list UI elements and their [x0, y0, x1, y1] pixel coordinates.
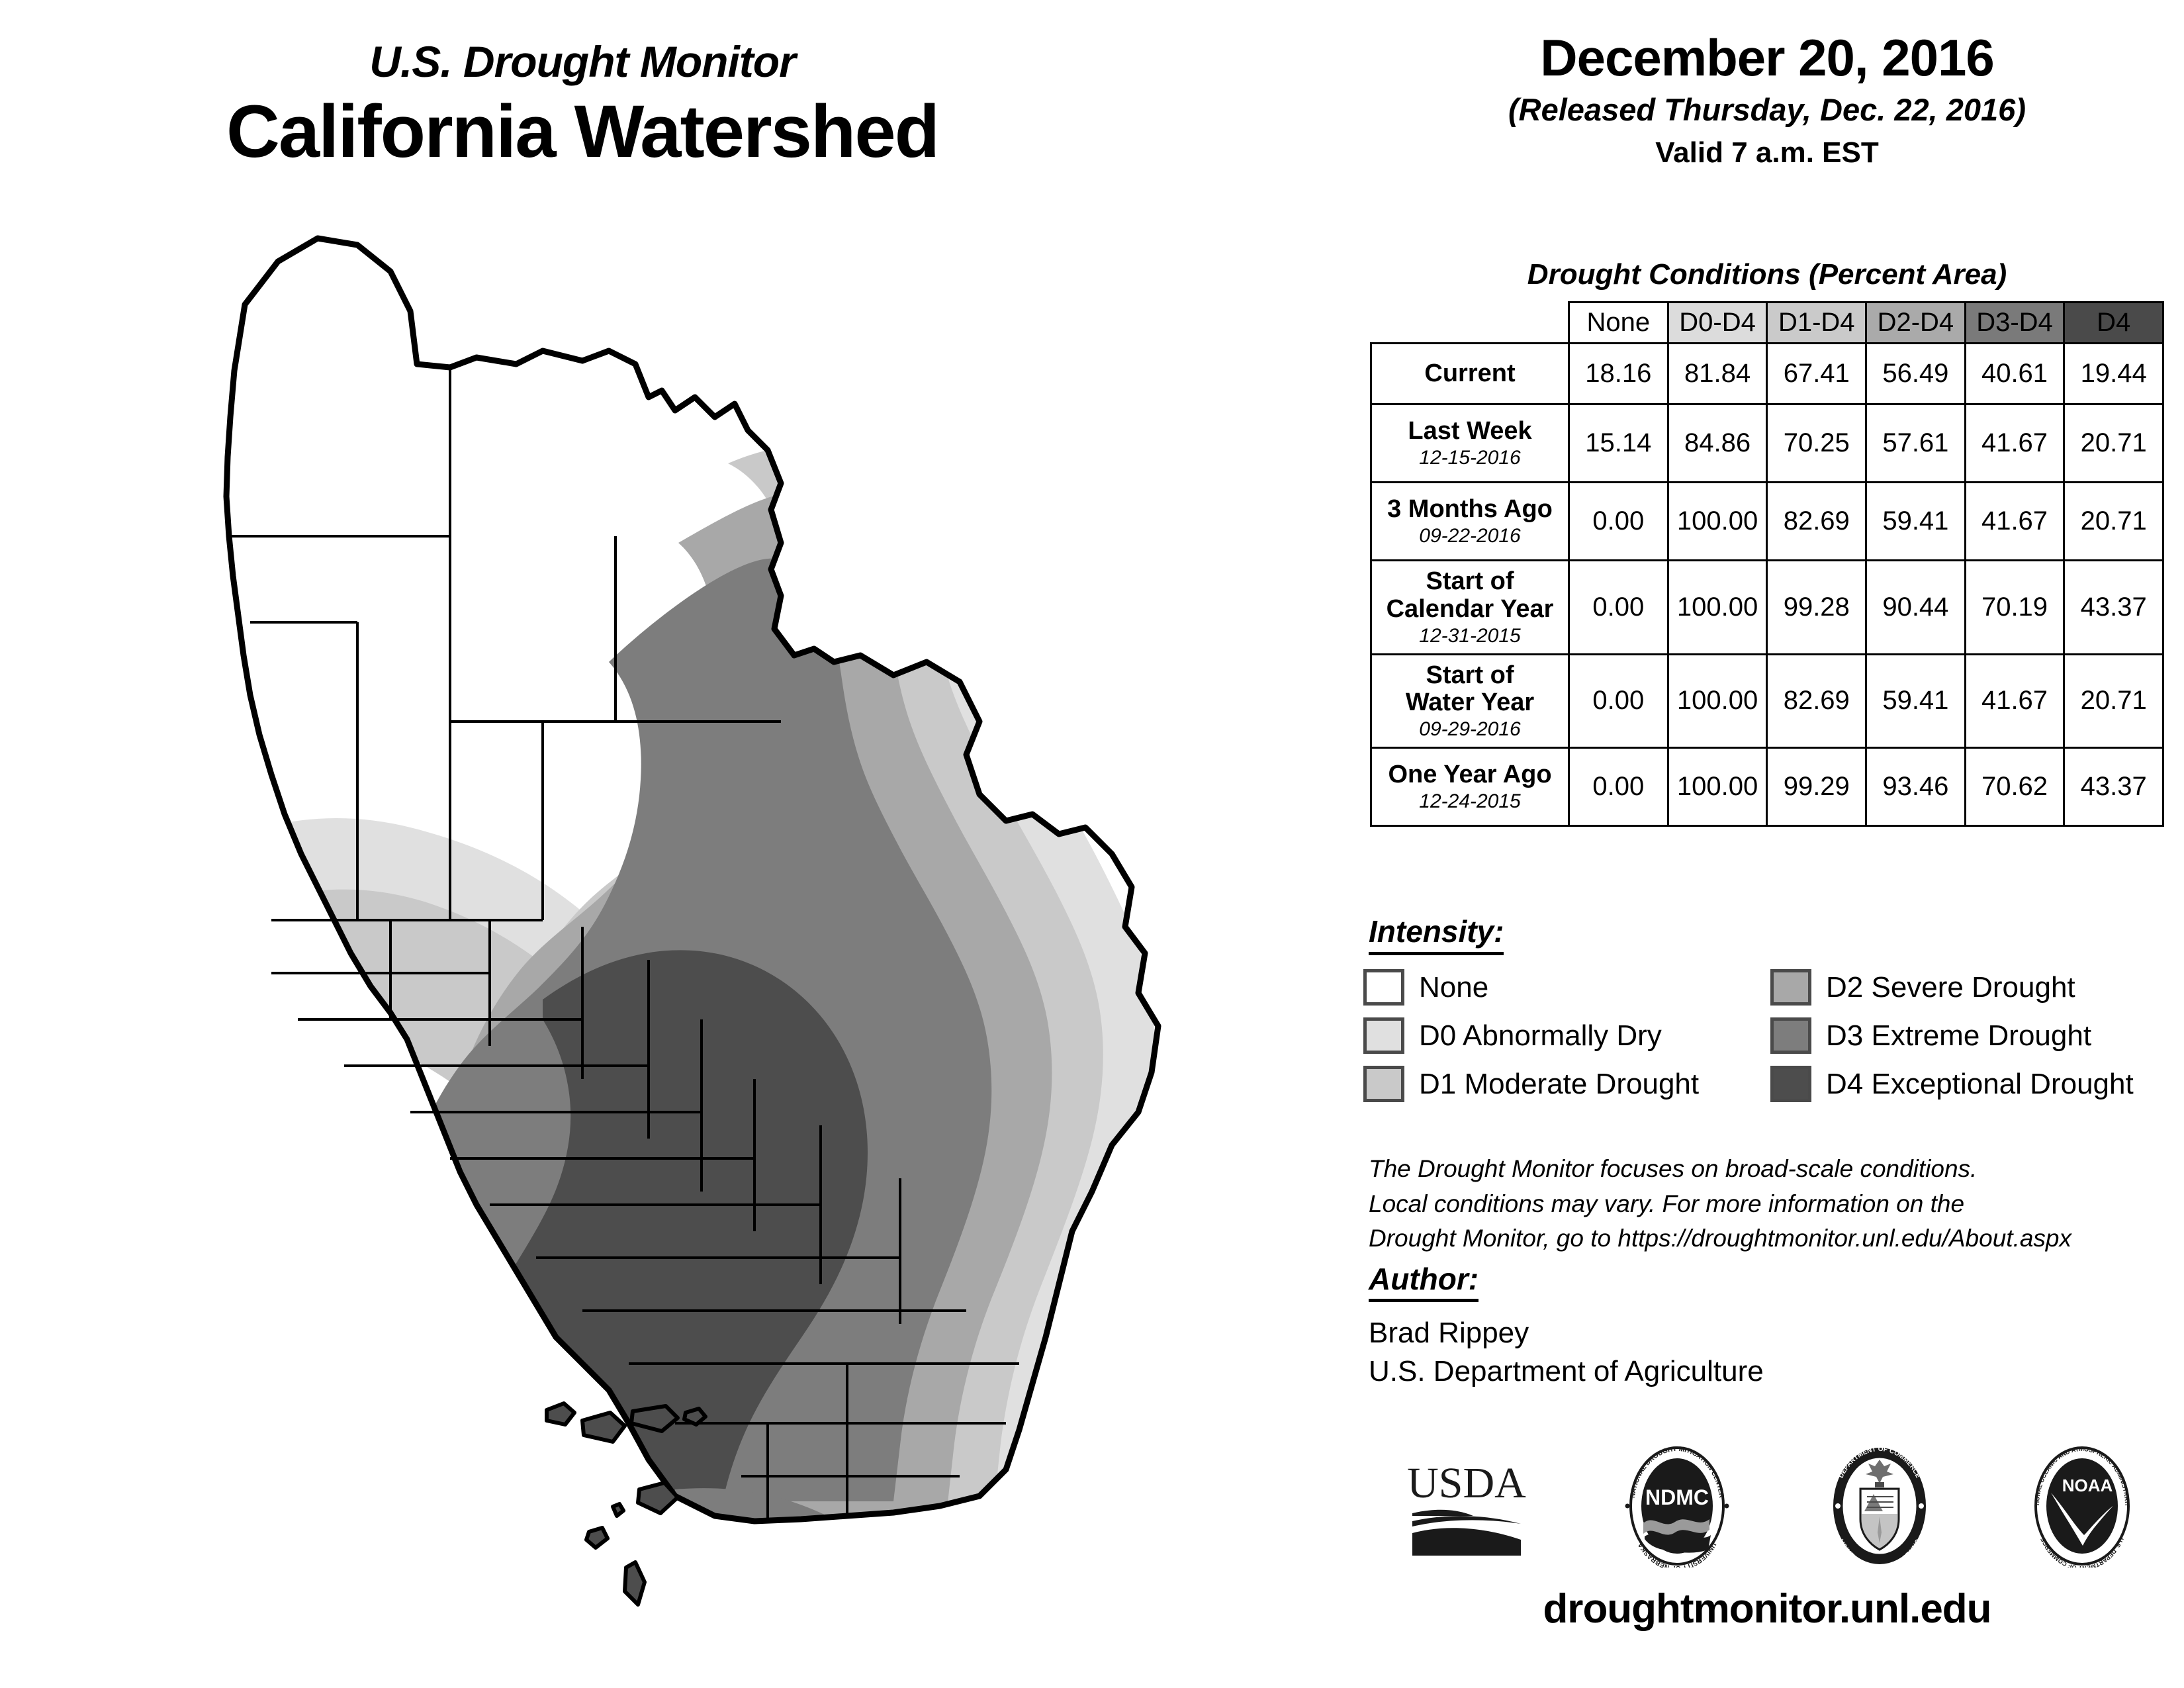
row-label-date: 12-31-2015	[1376, 625, 1564, 647]
author-heading: Author:	[1369, 1261, 1479, 1302]
ndmc-logo-text: NDMC	[1645, 1485, 1709, 1509]
row-label-name: Start ofWater Year	[1376, 662, 1564, 718]
cell-d2-d4: 93.46	[1866, 748, 1966, 826]
legend-item-d4: D4 Exceptional Drought	[1770, 1060, 2184, 1108]
cell-none: 0.00	[1569, 654, 1668, 748]
cell-d2-d4: 56.49	[1866, 344, 1966, 404]
release-date: (Released Thursday, Dec. 22, 2016)	[1350, 94, 2184, 125]
legend-label: D2 Severe Drought	[1826, 971, 2075, 1004]
legend-item-d1: D1 Moderate Drought	[1363, 1060, 1770, 1108]
cell-d0-d4: 100.00	[1668, 561, 1767, 655]
title-block: U.S. Drought Monitor California Watershe…	[0, 40, 1165, 171]
row-label-last-week: Last Week 12-15-2016	[1371, 404, 1569, 483]
legend-swatch-d0	[1363, 1017, 1404, 1054]
row-label-name: One Year Ago	[1376, 761, 1564, 789]
cell-d3-d4: 41.67	[1965, 654, 2064, 748]
cell-d3-d4: 41.67	[1965, 483, 2064, 561]
column-header-d2-d4: D2-D4	[1866, 303, 1966, 344]
cell-d1-d4: 67.41	[1767, 344, 1866, 404]
row-label-name: Last Week	[1376, 418, 1564, 445]
legend-item-d2: D2 Severe Drought	[1770, 963, 2184, 1011]
disclaimer-line-2: Local conditions may vary. For more info…	[1369, 1187, 2184, 1222]
author-affiliation: U.S. Department of Agriculture	[1369, 1352, 1764, 1391]
row-label-start-of-water-year: Start ofWater Year 09-29-2016	[1371, 654, 1569, 748]
table-row: Start ofCalendar Year 12-31-2015 0.00 10…	[1371, 561, 2163, 655]
row-label-3-months-ago: 3 Months Ago 09-22-2016	[1371, 483, 1569, 561]
author-name: Brad Rippey	[1369, 1314, 1764, 1352]
legend-label: D0 Abnormally Dry	[1419, 1019, 1662, 1053]
doc-logo: DEPARTMENT OF COMMERCE UNITED STATES OF …	[1822, 1445, 1938, 1568]
row-label-current: Current	[1371, 344, 1569, 404]
info-panel: December 20, 2016 (Released Thursday, De…	[1350, 0, 2184, 1688]
cell-d0-d4: 81.84	[1668, 344, 1767, 404]
disclaimer-line-1: The Drought Monitor focuses on broad-sca…	[1369, 1152, 2184, 1187]
column-header-d0-d4: D0-D4	[1668, 303, 1767, 344]
cell-d4: 20.71	[2064, 404, 2163, 483]
cell-d2-d4: 57.61	[1866, 404, 1966, 483]
row-label-date: 09-29-2016	[1376, 718, 1564, 740]
intensity-heading: Intensity:	[1369, 914, 1504, 955]
table-row: Current 18.16 81.84 67.41 56.49 40.61 19…	[1371, 344, 2163, 404]
map-panel: U.S. Drought Monitor California Watershe…	[0, 0, 1350, 1688]
valid-time: Valid 7 a.m. EST	[1350, 138, 2184, 167]
table-corner-cell	[1371, 303, 1569, 344]
column-header-d1-d4: D1-D4	[1767, 303, 1866, 344]
row-label-date: 12-24-2015	[1376, 790, 1564, 812]
cell-d3-d4: 70.19	[1965, 561, 2064, 655]
disclaimer-line-3: Drought Monitor, go to https://droughtmo…	[1369, 1221, 2184, 1256]
cell-d0-d4: 100.00	[1668, 483, 1767, 561]
cell-d1-d4: 70.25	[1767, 404, 1866, 483]
legend-label: D3 Extreme Drought	[1826, 1019, 2091, 1053]
row-label-date: 09-22-2016	[1376, 525, 1564, 547]
cell-d1-d4: 82.69	[1767, 654, 1866, 748]
noaa-logo-text: NOAA	[2062, 1476, 2113, 1495]
column-header-none: None	[1569, 303, 1668, 344]
row-label-date: 12-15-2016	[1376, 447, 1564, 469]
legend-swatch-d3	[1770, 1017, 1811, 1054]
legend-item-none: None	[1363, 963, 1770, 1011]
disclaimer-text: The Drought Monitor focuses on broad-sca…	[1369, 1152, 2184, 1256]
ndmc-logo: NDMC NATIONAL DROUGHT MITIGATION CENTER …	[1619, 1445, 1735, 1568]
table-title: Drought Conditions (Percent Area)	[1350, 258, 2184, 291]
legend-swatch-d1	[1363, 1066, 1404, 1102]
cell-d2-d4: 59.41	[1866, 483, 1966, 561]
cell-none: 0.00	[1569, 748, 1668, 826]
cell-d3-d4: 70.62	[1965, 748, 2064, 826]
row-label-name: 3 Months Ago	[1376, 496, 1564, 524]
cell-d0-d4: 100.00	[1668, 654, 1767, 748]
table-row: 3 Months Ago 09-22-2016 0.00 100.00 82.6…	[1371, 483, 2163, 561]
cell-d4: 19.44	[2064, 344, 2163, 404]
cell-d0-d4: 100.00	[1668, 748, 1767, 826]
legend-swatch-d2	[1770, 969, 1811, 1006]
cell-d1-d4: 99.29	[1767, 748, 1866, 826]
cell-d3-d4: 40.61	[1965, 344, 2064, 404]
table-row: Start ofWater Year 09-29-2016 0.00 100.0…	[1371, 654, 2163, 748]
cell-d4: 20.71	[2064, 654, 2163, 748]
california-watershed-map[interactable]	[79, 199, 1304, 1655]
legend-swatch-d4	[1770, 1066, 1811, 1102]
row-label-name: Start ofCalendar Year	[1376, 568, 1564, 624]
date-block: December 20, 2016 (Released Thursday, De…	[1350, 32, 2184, 167]
author-block: Brad Rippey U.S. Department of Agricultu…	[1369, 1314, 1764, 1391]
row-label-name: Current	[1376, 360, 1564, 388]
page-subtitle: U.S. Drought Monitor	[0, 40, 1165, 83]
legend-label: D1 Moderate Drought	[1419, 1068, 1699, 1101]
agency-logos: USDA NDMC NATIONAL DROUGHT MITIGATION CE…	[1357, 1436, 2184, 1575]
cell-d2-d4: 59.41	[1866, 654, 1966, 748]
row-label-start-of-calendar-year: Start ofCalendar Year 12-31-2015	[1371, 561, 1569, 655]
drought-conditions-table: None D0-D4 D1-D4 D2-D4 D3-D4 D4 Current …	[1370, 301, 2164, 827]
row-label-one-year-ago: One Year Ago 12-24-2015	[1371, 748, 1569, 826]
legend-swatch-none	[1363, 969, 1404, 1006]
column-header-d4: D4	[2064, 303, 2163, 344]
map-container[interactable]	[79, 199, 1304, 1655]
table-row: One Year Ago 12-24-2015 0.00 100.00 99.2…	[1371, 748, 2163, 826]
cell-d4: 43.37	[2064, 561, 2163, 655]
cell-d0-d4: 84.86	[1668, 404, 1767, 483]
cell-d1-d4: 99.28	[1767, 561, 1866, 655]
drought-monitor-page: U.S. Drought Monitor California Watershe…	[0, 0, 2184, 1688]
cell-d4: 43.37	[2064, 748, 2163, 826]
cell-d2-d4: 90.44	[1866, 561, 1966, 655]
table-row: Last Week 12-15-2016 15.14 84.86 70.25 5…	[1371, 404, 2163, 483]
report-date: December 20, 2016	[1350, 32, 2184, 83]
cell-none: 0.00	[1569, 483, 1668, 561]
cell-d3-d4: 41.67	[1965, 404, 2064, 483]
cell-none: 18.16	[1569, 344, 1668, 404]
cell-none: 15.14	[1569, 404, 1668, 483]
usda-logo-text: USDA	[1407, 1459, 1526, 1507]
cell-d1-d4: 82.69	[1767, 483, 1866, 561]
noaa-logo: NOAA NATIONAL OCEANIC AND ATMOSPHERIC AD…	[2025, 1445, 2140, 1568]
legend-item-d3: D3 Extreme Drought	[1770, 1011, 2184, 1060]
cell-none: 0.00	[1569, 561, 1668, 655]
page-title: California Watershed	[0, 93, 1165, 171]
cell-d4: 20.71	[2064, 483, 2163, 561]
column-header-d3-d4: D3-D4	[1965, 303, 2064, 344]
table-header-row: None D0-D4 D1-D4 D2-D4 D3-D4 D4	[1371, 303, 2163, 344]
intensity-legend: None D2 Severe Drought D0 Abnormally Dry…	[1363, 963, 2184, 1108]
legend-label: D4 Exceptional Drought	[1826, 1068, 2134, 1101]
usda-logo: USDA	[1400, 1450, 1533, 1562]
legend-label: None	[1419, 971, 1488, 1004]
legend-item-d0: D0 Abnormally Dry	[1363, 1011, 1770, 1060]
footer-url[interactable]: droughtmonitor.unl.edu	[1350, 1585, 2184, 1632]
